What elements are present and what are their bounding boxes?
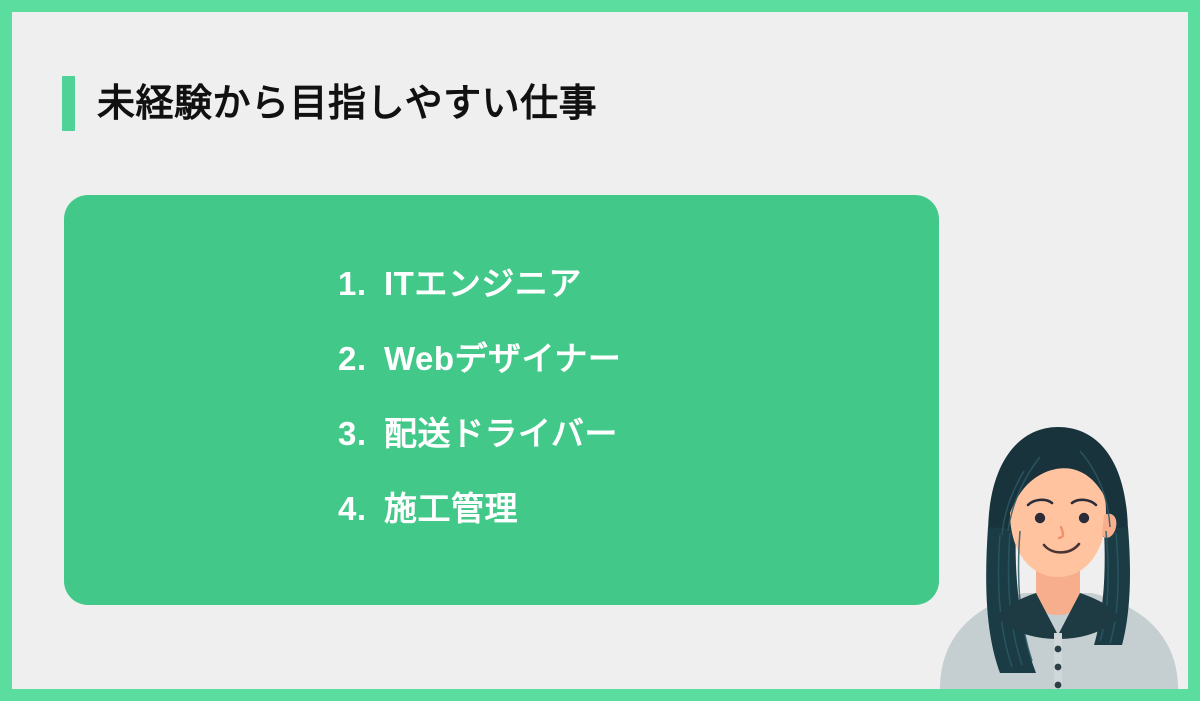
page-title-text: 未経験から目指しやすい仕事 <box>97 85 597 123</box>
list-item: 1. ITエンジニア <box>338 257 621 332</box>
list-item-label: 施工管理 <box>384 482 518 530</box>
list-item-label: 配送ドライバー <box>384 407 618 455</box>
job-list: 1. ITエンジニア 2. Webデザイナー 3. 配送ドライバー 4. 施工管… <box>338 257 621 557</box>
list-item-number: 2. <box>338 340 384 378</box>
title-accent-bar <box>62 76 75 131</box>
list-item-number: 4. <box>338 490 384 528</box>
smiling-woman-illustration <box>928 417 1188 689</box>
list-item-number: 1. <box>338 265 384 303</box>
slide: 未経験から目指しやすい仕事 1. ITエンジニア 2. Webデザイナー 3. … <box>0 0 1200 701</box>
list-item-number: 3. <box>338 415 384 453</box>
list-item: 2. Webデザイナー <box>338 332 621 407</box>
list-item: 3. 配送ドライバー <box>338 407 621 482</box>
list-item-label: Webデザイナー <box>384 332 621 380</box>
slide-canvas: 未経験から目指しやすい仕事 1. ITエンジニア 2. Webデザイナー 3. … <box>12 12 1188 689</box>
job-list-card: 1. ITエンジニア 2. Webデザイナー 3. 配送ドライバー 4. 施工管… <box>64 195 939 605</box>
page-title: 未経験から目指しやすい仕事 <box>62 76 597 131</box>
list-item: 4. 施工管理 <box>338 482 621 557</box>
list-item-label: ITエンジニア <box>384 257 582 305</box>
